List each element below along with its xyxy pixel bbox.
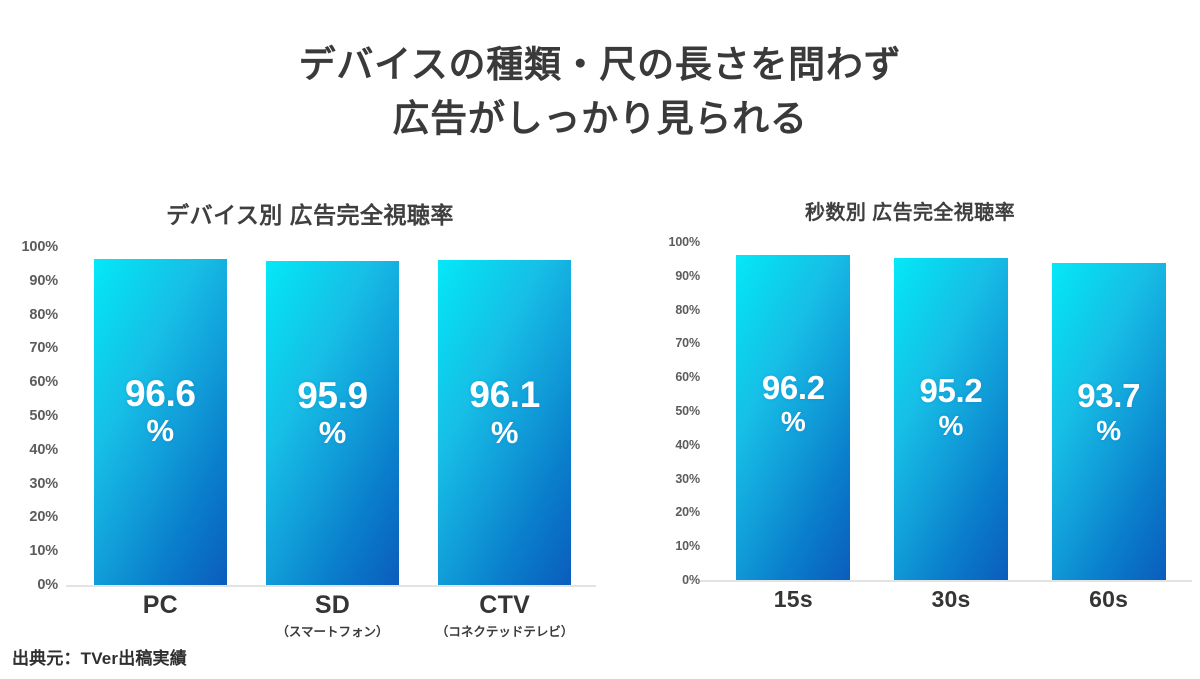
bar[interactable]: 96.1% <box>438 260 571 585</box>
bar-value-number: 96.1 <box>438 376 571 414</box>
y-tick-label: 50% <box>29 408 58 424</box>
page-title-line-1: デバイスの種類・尺の長さを問わず <box>0 38 1200 92</box>
bar-value-label: 95.9% <box>266 377 399 450</box>
x-axis-label-main: SD <box>242 591 424 620</box>
y-tick-label: 100% <box>669 235 700 249</box>
y-tick-label: 40% <box>675 438 700 452</box>
y-tick-label: 20% <box>29 509 58 525</box>
bar-value-unit: % <box>438 417 571 449</box>
x-axis-label: PC <box>69 591 251 620</box>
bar-value-number: 93.7 <box>1052 379 1166 413</box>
bar-value-number: 95.2 <box>894 374 1008 408</box>
page-title: デバイスの種類・尺の長さを問わず 広告がしっかり見られる <box>0 38 1200 147</box>
bar-value-label: 96.2% <box>736 371 850 436</box>
bar-slot: 96.2% <box>736 242 850 580</box>
bar-slot: 95.9% <box>266 247 399 585</box>
y-tick-label: 40% <box>29 442 58 458</box>
x-axis-label-sub: （スマートフォン） <box>242 621 424 640</box>
x-axis-label: 60s <box>1030 586 1188 613</box>
bar-slot: 95.2% <box>894 242 1008 580</box>
bar-value-number: 96.2 <box>736 371 850 405</box>
y-tick-label: 90% <box>29 273 58 289</box>
y-tick-label: 80% <box>29 307 58 323</box>
y-tick-label: 100% <box>21 239 58 255</box>
y-tick-label: 0% <box>682 573 700 587</box>
y-tick-label: 50% <box>675 404 700 418</box>
x-axis-line-duration <box>700 580 1192 582</box>
bar-value-label: 93.7% <box>1052 379 1166 444</box>
y-tick-label: 0% <box>37 577 58 593</box>
bar-value-unit: % <box>266 417 399 449</box>
plot-area-duration: 100%90%80%70%60%50%40%30%20%10%0% 96.2%9… <box>620 242 1200 662</box>
y-tick-label: 10% <box>675 539 700 553</box>
bar-slot: 93.7% <box>1052 242 1166 580</box>
bar-value-label: 95.2% <box>894 374 1008 439</box>
y-tick-label: 70% <box>675 336 700 350</box>
x-axis-label-main: 15s <box>714 586 872 613</box>
y-tick-label: 60% <box>29 374 58 390</box>
y-tick-label: 60% <box>675 370 700 384</box>
y-tick-label: 30% <box>675 472 700 486</box>
plot-area-device: 100%90%80%70%60%50%40%30%20%10%0% 96.6%9… <box>0 247 620 667</box>
y-tick-label: 10% <box>29 543 58 559</box>
bar-group-device: 96.6%95.9%96.1% <box>90 247 575 585</box>
x-axis-label: 15s <box>714 586 872 613</box>
x-axis-label-sub: （コネクテッドテレビ） <box>414 621 596 640</box>
y-tick-label: 30% <box>29 476 58 492</box>
y-tick-label: 70% <box>29 340 58 356</box>
bar-value-unit: % <box>894 411 1008 440</box>
x-axis-line-device <box>66 585 596 587</box>
bar-slot: 96.1% <box>438 247 571 585</box>
chart-panel-device: デバイス別 広告完全視聴率 100%90%80%70%60%50%40%30%2… <box>0 196 620 667</box>
bar-value-unit: % <box>736 407 850 436</box>
bar-slot: 96.6% <box>94 247 227 585</box>
bar[interactable]: 95.2% <box>894 258 1008 580</box>
x-axis-label-main: 60s <box>1030 586 1188 613</box>
bar[interactable]: 93.7% <box>1052 263 1166 580</box>
y-tick-label: 20% <box>675 505 700 519</box>
bar[interactable]: 96.6% <box>94 259 227 586</box>
chart-title-duration: 秒数別 広告完全視聴率 <box>620 196 1200 225</box>
page-title-line-2: 広告がしっかり見られる <box>0 92 1200 146</box>
source-note: 出典元：TVer出稿実績 <box>12 644 187 669</box>
bar[interactable]: 96.2% <box>736 255 850 580</box>
x-axis-label: CTV（コネクテッドテレビ） <box>414 591 596 640</box>
x-axis-label-main: CTV <box>414 591 596 620</box>
y-tick-label: 80% <box>675 303 700 317</box>
bar-value-unit: % <box>94 415 227 447</box>
x-axis-label-main: 30s <box>872 586 1030 613</box>
x-axis-label-main: PC <box>69 591 251 620</box>
chart-title-device: デバイス別 広告完全視聴率 <box>0 196 620 230</box>
x-axis-label: SD（スマートフォン） <box>242 591 424 640</box>
bar-value-number: 96.6 <box>94 375 227 413</box>
chart-panel-duration: 秒数別 広告完全視聴率 100%90%80%70%60%50%40%30%20%… <box>620 196 1200 662</box>
y-tick-label: 90% <box>675 269 700 283</box>
bar[interactable]: 95.9% <box>266 261 399 585</box>
bar-value-label: 96.6% <box>94 375 227 448</box>
y-axis-device: 100%90%80%70%60%50%40%30%20%10%0% <box>10 247 58 587</box>
x-axis-labels-duration: 15s30s60s <box>732 586 1170 656</box>
bar-value-unit: % <box>1052 416 1166 445</box>
bar-group-duration: 96.2%95.2%93.7% <box>732 242 1170 580</box>
bar-value-label: 96.1% <box>438 376 571 449</box>
y-axis-duration: 100%90%80%70%60%50%40%30%20%10%0% <box>652 242 700 582</box>
bar-value-number: 95.9 <box>266 377 399 415</box>
x-axis-label: 30s <box>872 586 1030 613</box>
